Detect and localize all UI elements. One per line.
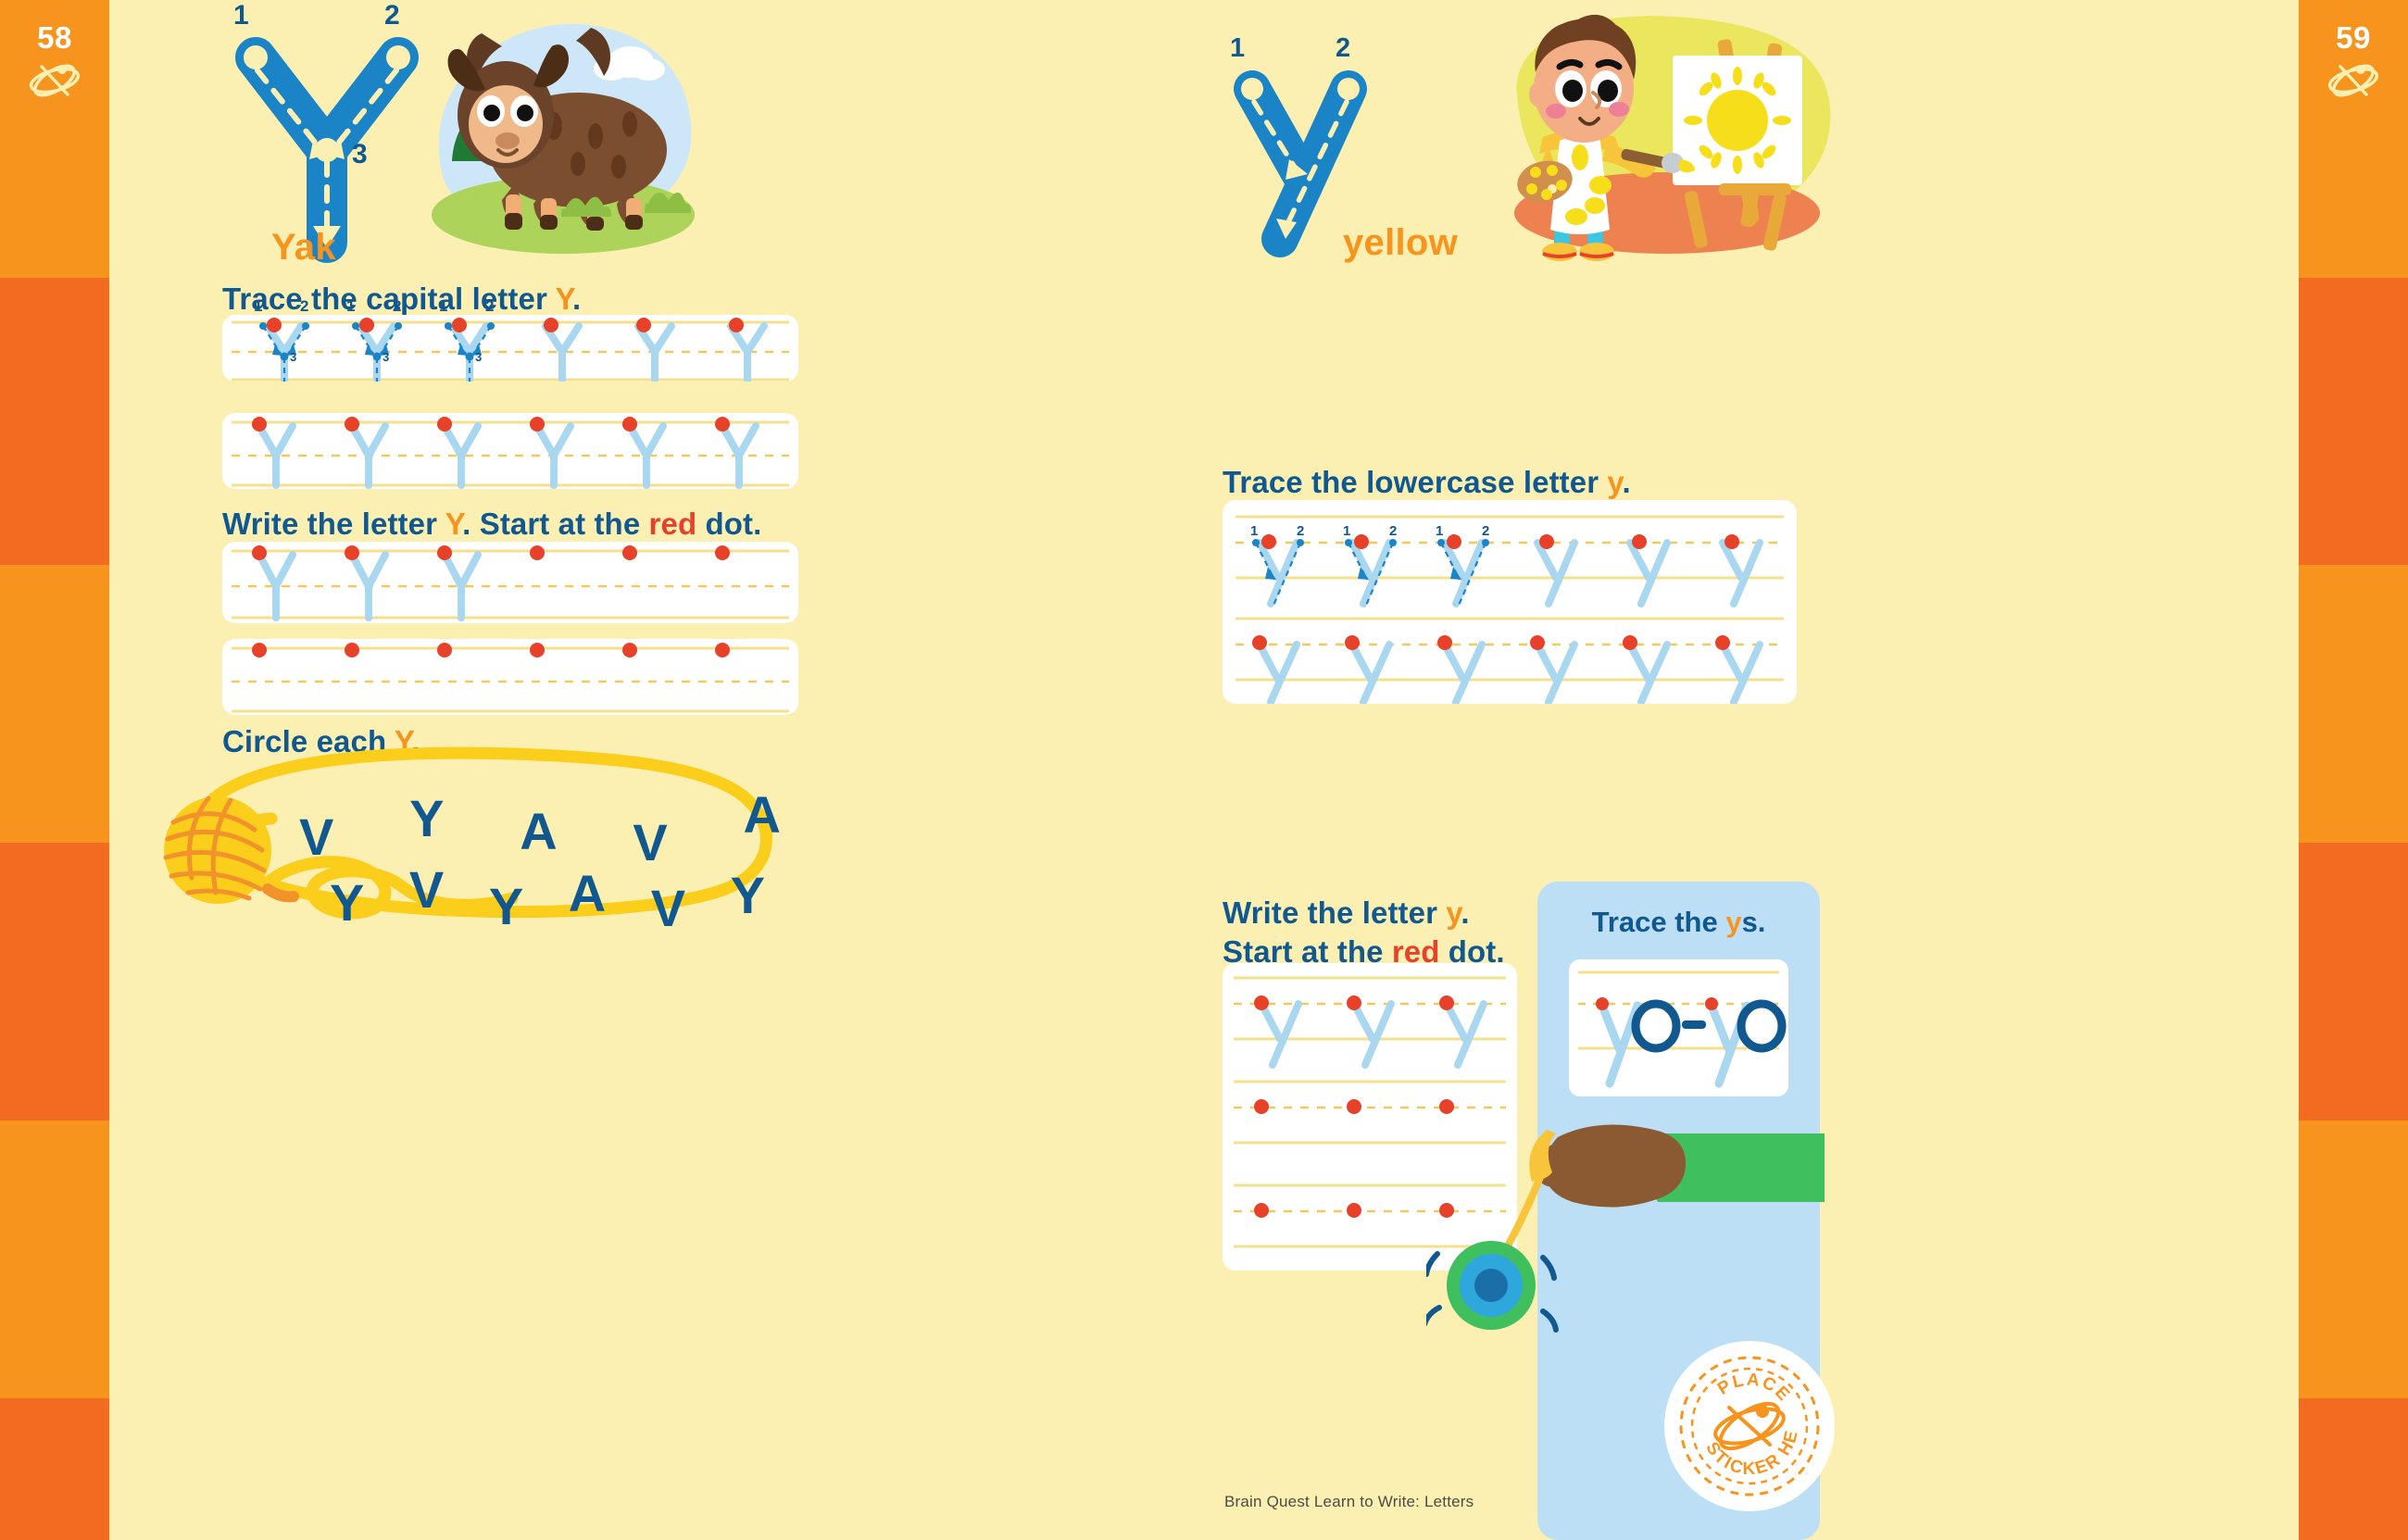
puzzle-letter: Y (330, 872, 364, 933)
stroke-number-1: 1 (233, 0, 249, 31)
instruction-letter: y (1607, 465, 1622, 499)
puzzle-letter: V (299, 807, 333, 867)
instruction-text: Write the letter (222, 507, 445, 541)
page-58: 1 2 3 Yak (109, 0, 1204, 1540)
puzzle-letter: A (744, 784, 781, 845)
left-page-edge: 58 (0, 0, 109, 1540)
yarn-ball-icon (164, 796, 294, 904)
stroke-number-2: 2 (1336, 33, 1350, 64)
instruction-trace-lowercase: Trace the lowercase letter y. (1223, 463, 1631, 502)
instruction-period: . (572, 282, 581, 316)
instruction-text: Trace the lowercase letter (1223, 465, 1607, 499)
edge-stripe (2299, 1398, 2408, 1540)
edge-stripe (0, 843, 109, 1121)
instruction-red-word: red (649, 507, 697, 541)
puzzle-letter: Y (731, 865, 765, 925)
edge-stripe (2299, 1121, 2408, 1398)
yo-yo-in-hand-illustration (1426, 1113, 1825, 1349)
svg-text:2: 2 (302, 315, 308, 316)
page-number-left: 58 (0, 20, 109, 56)
edge-stripe (0, 1398, 109, 1540)
word-label-yak: Yak (271, 227, 336, 269)
svg-text:1: 1 (1343, 523, 1350, 539)
instruction-letter: Y (556, 282, 572, 316)
svg-text:1: 1 (350, 315, 357, 316)
svg-text:1: 1 (257, 315, 264, 316)
stroke-number-1: 1 (1230, 33, 1245, 64)
svg-text:1: 1 (1436, 523, 1443, 539)
instruction-line-1: Write the letter y. (1223, 894, 1505, 933)
svg-text:2: 2 (487, 315, 494, 316)
panel-title-trace-ys: Trace the ys. (1592, 906, 1766, 939)
workbook-spread: 1 2 3 Yak (109, 0, 2299, 1540)
svg-text:2: 2 (1297, 523, 1304, 539)
edge-stripe (0, 1121, 109, 1398)
practice-strip-trace-capital-row1[interactable]: 12 12 12 333 (222, 315, 798, 382)
svg-text:2: 2 (1389, 523, 1397, 539)
instruction-text: dot. (696, 507, 761, 541)
puzzle-letter: V (409, 859, 444, 920)
footer-credit: Brain Quest Learn to Write: Letters (1224, 1493, 1474, 1511)
stroke-number-3: 3 (352, 139, 368, 170)
svg-text:3: 3 (290, 350, 296, 364)
brain-quest-logo-icon (2326, 57, 2381, 105)
puzzle-letters-row1: V Y A V A (299, 792, 781, 852)
instruction-text: Write the letter (1223, 895, 1446, 930)
puzzle-letter: Y (409, 788, 444, 848)
page-59: 1 2 yellow (1204, 0, 2299, 1540)
instruction-letter: Y (445, 507, 462, 541)
sticker-panel[interactable]: Trace the ys. (1537, 882, 1820, 1540)
instruction-period: . (1461, 895, 1469, 930)
brain-quest-logo-icon (27, 57, 82, 105)
svg-text:3: 3 (383, 350, 389, 364)
svg-text:3: 3 (475, 350, 482, 364)
word-label-yellow: yellow (1343, 222, 1458, 264)
edge-stripe (2299, 843, 2408, 1121)
instruction-write-lowercase: Write the letter y. Start at the red dot… (1223, 894, 1505, 971)
right-page-edge: 59 (2299, 0, 2408, 1540)
puzzle-letter: A (520, 801, 557, 861)
panel-title-text: Trace the (1592, 906, 1726, 938)
yak-illustration (396, 11, 711, 266)
instruction-period: . (1622, 465, 1630, 499)
page-number-right: 59 (2299, 20, 2408, 56)
panel-title-text: s. (1742, 906, 1766, 938)
edge-stripe (2299, 278, 2408, 565)
instruction-text: . Start at the (462, 507, 648, 541)
puzzle-letter: Y (489, 876, 523, 936)
practice-strip-write-capital-row1[interactable] (222, 542, 798, 623)
puzzle-letter: V (651, 878, 685, 938)
edge-stripe (2299, 565, 2408, 843)
svg-text:2: 2 (395, 315, 401, 316)
practice-strip-trace-capital-row2[interactable] (222, 413, 798, 489)
svg-text:1: 1 (1250, 523, 1258, 539)
svg-text:1: 1 (443, 315, 449, 316)
svg-text:2: 2 (1482, 523, 1489, 539)
instruction-write-capital: Write the letter Y. Start at the red dot… (222, 505, 761, 544)
boy-painting-illustration (1491, 7, 1843, 271)
place-sticker-badge[interactable]: PLACE STICKER HERE (1661, 1337, 1838, 1520)
instruction-letter: y (1446, 895, 1461, 930)
panel-title-letter: y (1725, 906, 1741, 938)
practice-strip-write-capital-row2[interactable] (222, 639, 798, 715)
edge-stripe (0, 278, 109, 565)
practice-card-trace-lowercase[interactable]: 12 12 12 (1223, 500, 1797, 704)
puzzle-letters-row2: Y V Y A V Y (330, 861, 765, 921)
edge-stripe (0, 565, 109, 843)
instruction-text: Trace the capital letter (222, 282, 556, 316)
puzzle-letter: A (569, 863, 606, 923)
instruction-trace-capital: Trace the capital letter Y. (222, 280, 581, 319)
yo-yo-trace-strip[interactable] (1569, 959, 1788, 1096)
